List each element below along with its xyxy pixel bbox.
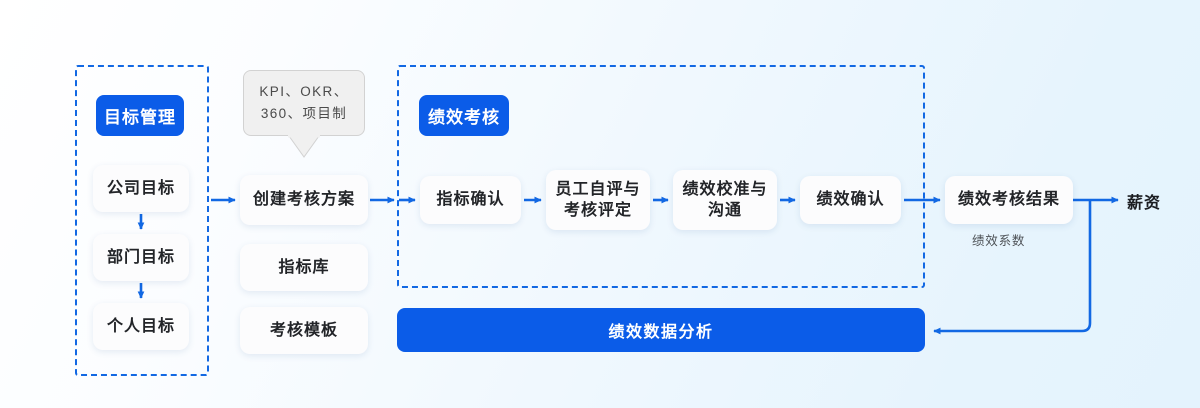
node-performance-calibration-and-communication[interactable]: 绩效校准与 沟通 [673,170,777,230]
node-indicator-confirmation[interactable]: 指标确认 [420,176,521,224]
node-company-goal[interactable]: 公司目标 [93,165,189,212]
callout-assessment-methods: KPI、OKR、 360、项目制 [243,70,365,136]
node-personal-goal[interactable]: 个人目标 [93,303,189,350]
label-salary: 薪资 [1127,189,1161,213]
label-performance-coefficient: 绩效系数 [972,230,1025,249]
node-assessment-template[interactable]: 考核模板 [240,307,368,354]
section-chip-goal-management[interactable]: 目标管理 [96,95,184,136]
node-self-evaluation-and-rating[interactable]: 员工自评与 考核评定 [546,170,650,230]
section-chip-performance-review[interactable]: 绩效考核 [419,95,509,136]
bar-performance-data-analysis[interactable]: 绩效数据分析 [397,308,925,352]
node-department-goal[interactable]: 部门目标 [93,234,189,281]
node-indicator-library[interactable]: 指标库 [240,244,368,291]
callout-pointer-icon [288,135,320,159]
node-performance-result[interactable]: 绩效考核结果 [945,176,1073,224]
node-performance-confirmation[interactable]: 绩效确认 [800,176,901,224]
node-create-assessment-plan[interactable]: 创建考核方案 [240,175,368,225]
diagram-canvas: 目标管理 绩效考核 公司目标 部门目标 个人目标 KPI、OKR、 360、项目… [0,0,1200,408]
